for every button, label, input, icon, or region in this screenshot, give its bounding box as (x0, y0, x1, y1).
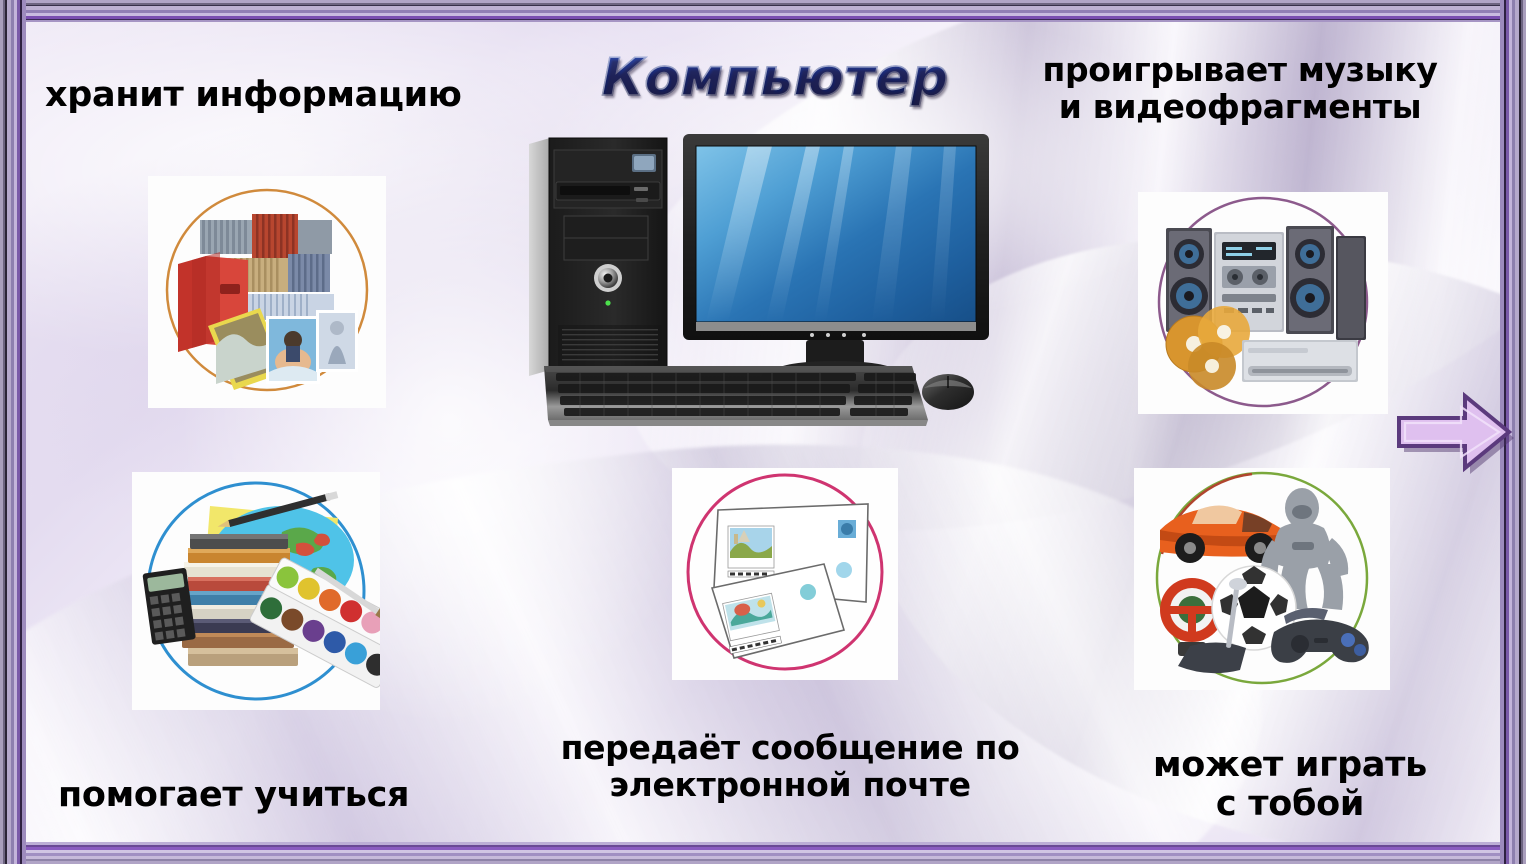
caption-helps-to-learn: помогает учиться (58, 776, 409, 815)
caption-sends-email: передаёт сообщение по электронной почте (505, 730, 1075, 804)
frame-border-left (0, 0, 26, 864)
caption-plays-music: проигрывает музыку и видеофрагменты (1005, 52, 1475, 126)
school-supplies-photo (132, 472, 380, 710)
next-slide-arrow[interactable] (1390, 384, 1520, 480)
desktop-computer-photo (520, 120, 1020, 445)
games-photo (1134, 468, 1390, 690)
archive-binders-photo (148, 176, 386, 408)
page-title: Компьютер (601, 48, 948, 108)
slide-title-container: Компьютер (575, 48, 975, 110)
stereo-system-photo (1138, 192, 1388, 414)
envelopes-photo (672, 468, 898, 680)
presentation-slide: хранит информацию проигрывает музыку и в… (0, 0, 1526, 864)
caption-can-play-with-you: может играть с тобой (1100, 746, 1480, 824)
frame-border-top (0, 0, 1526, 22)
frame-border-bottom (0, 842, 1526, 864)
caption-stores-information: хранит информацию (45, 76, 462, 115)
